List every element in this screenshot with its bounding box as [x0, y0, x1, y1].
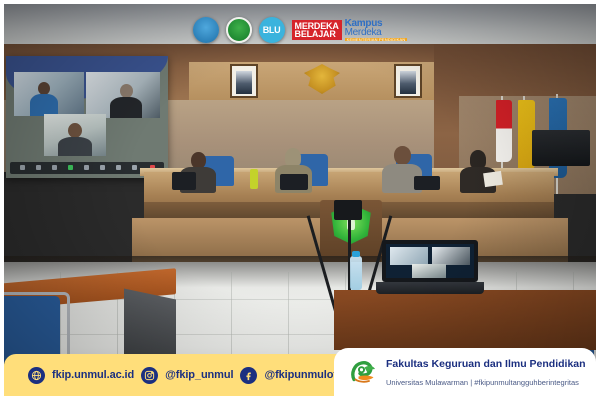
mbkm-tagline: KEMENTERIAN PENDIDIKAN — [345, 38, 408, 42]
mbkm-logo: MERDEKA BELAJAR Kampus Merdeka KEMENTERI… — [292, 19, 408, 42]
laptop-2 — [280, 174, 308, 190]
university-line: Universitas Mulawarman | #fkipunmultangg… — [386, 378, 579, 387]
laptop-1 — [172, 172, 196, 190]
projection-screen — [6, 56, 168, 178]
logo-banner: BLU MERDEKA BELAJAR Kampus Merdeka KEMEN… — [4, 12, 596, 48]
footer-identity-bar: Fakultas Keguruan dan Ilmu Pendidikan Un… — [334, 348, 596, 396]
kampus-merdeka-mark: Kampus Merdeka KEMENTERIAN PENDIDIKAN — [345, 19, 408, 42]
portrait-president — [230, 64, 258, 98]
laptop-zoom-screen — [386, 244, 474, 278]
water-bottle — [350, 256, 362, 290]
footer-text-block: Fakultas Keguruan dan Ilmu Pendidikan Un… — [386, 354, 586, 390]
flag-merah-putih — [496, 100, 512, 162]
zoom-video-tile-3 — [44, 114, 106, 156]
video-camera — [334, 200, 362, 220]
footer-social-bar: fkip.unmul.ac.id @fkip_unmul @fkipunmulo… — [4, 354, 362, 396]
fkip-unmul-logo — [348, 357, 378, 387]
belajar-text: BELAJAR — [295, 30, 339, 38]
facebook-icon — [240, 367, 257, 384]
portrait-vice-president — [394, 64, 422, 98]
universitas-mulawarman-logo — [226, 17, 252, 43]
faculty-name: Fakultas Keguruan dan Ilmu Pendidikan — [386, 358, 586, 370]
zoom-video-tile-2 — [86, 72, 160, 118]
laptop-3 — [414, 176, 440, 190]
photo-frame: BLU MERDEKA BELAJAR Kampus Merdeka KEMEN… — [0, 0, 600, 400]
globe-icon — [28, 367, 45, 384]
zoom-video-tile-1 — [14, 72, 84, 116]
operator-laptop — [382, 240, 478, 296]
instagram-icon — [141, 367, 158, 384]
laptop-keyboard — [376, 282, 484, 294]
website-handle[interactable]: fkip.unmul.ac.id — [52, 369, 134, 381]
foreground-table — [334, 290, 600, 350]
tut-wuri-handayani-logo — [193, 17, 219, 43]
footer: fkip.unmul.ac.id @fkip_unmul @fkipunmulo… — [4, 348, 596, 396]
meeting-room-scene — [4, 4, 596, 396]
blu-logo: BLU — [259, 17, 285, 43]
wall-monitor — [532, 130, 590, 166]
laptop-lid — [382, 240, 478, 282]
merdeka-belajar-mark: MERDEKA BELAJAR — [292, 20, 342, 41]
paper-document — [483, 171, 503, 187]
instagram-handle[interactable]: @fkip_unmul — [165, 369, 233, 381]
tumbler-bottle — [250, 169, 258, 189]
